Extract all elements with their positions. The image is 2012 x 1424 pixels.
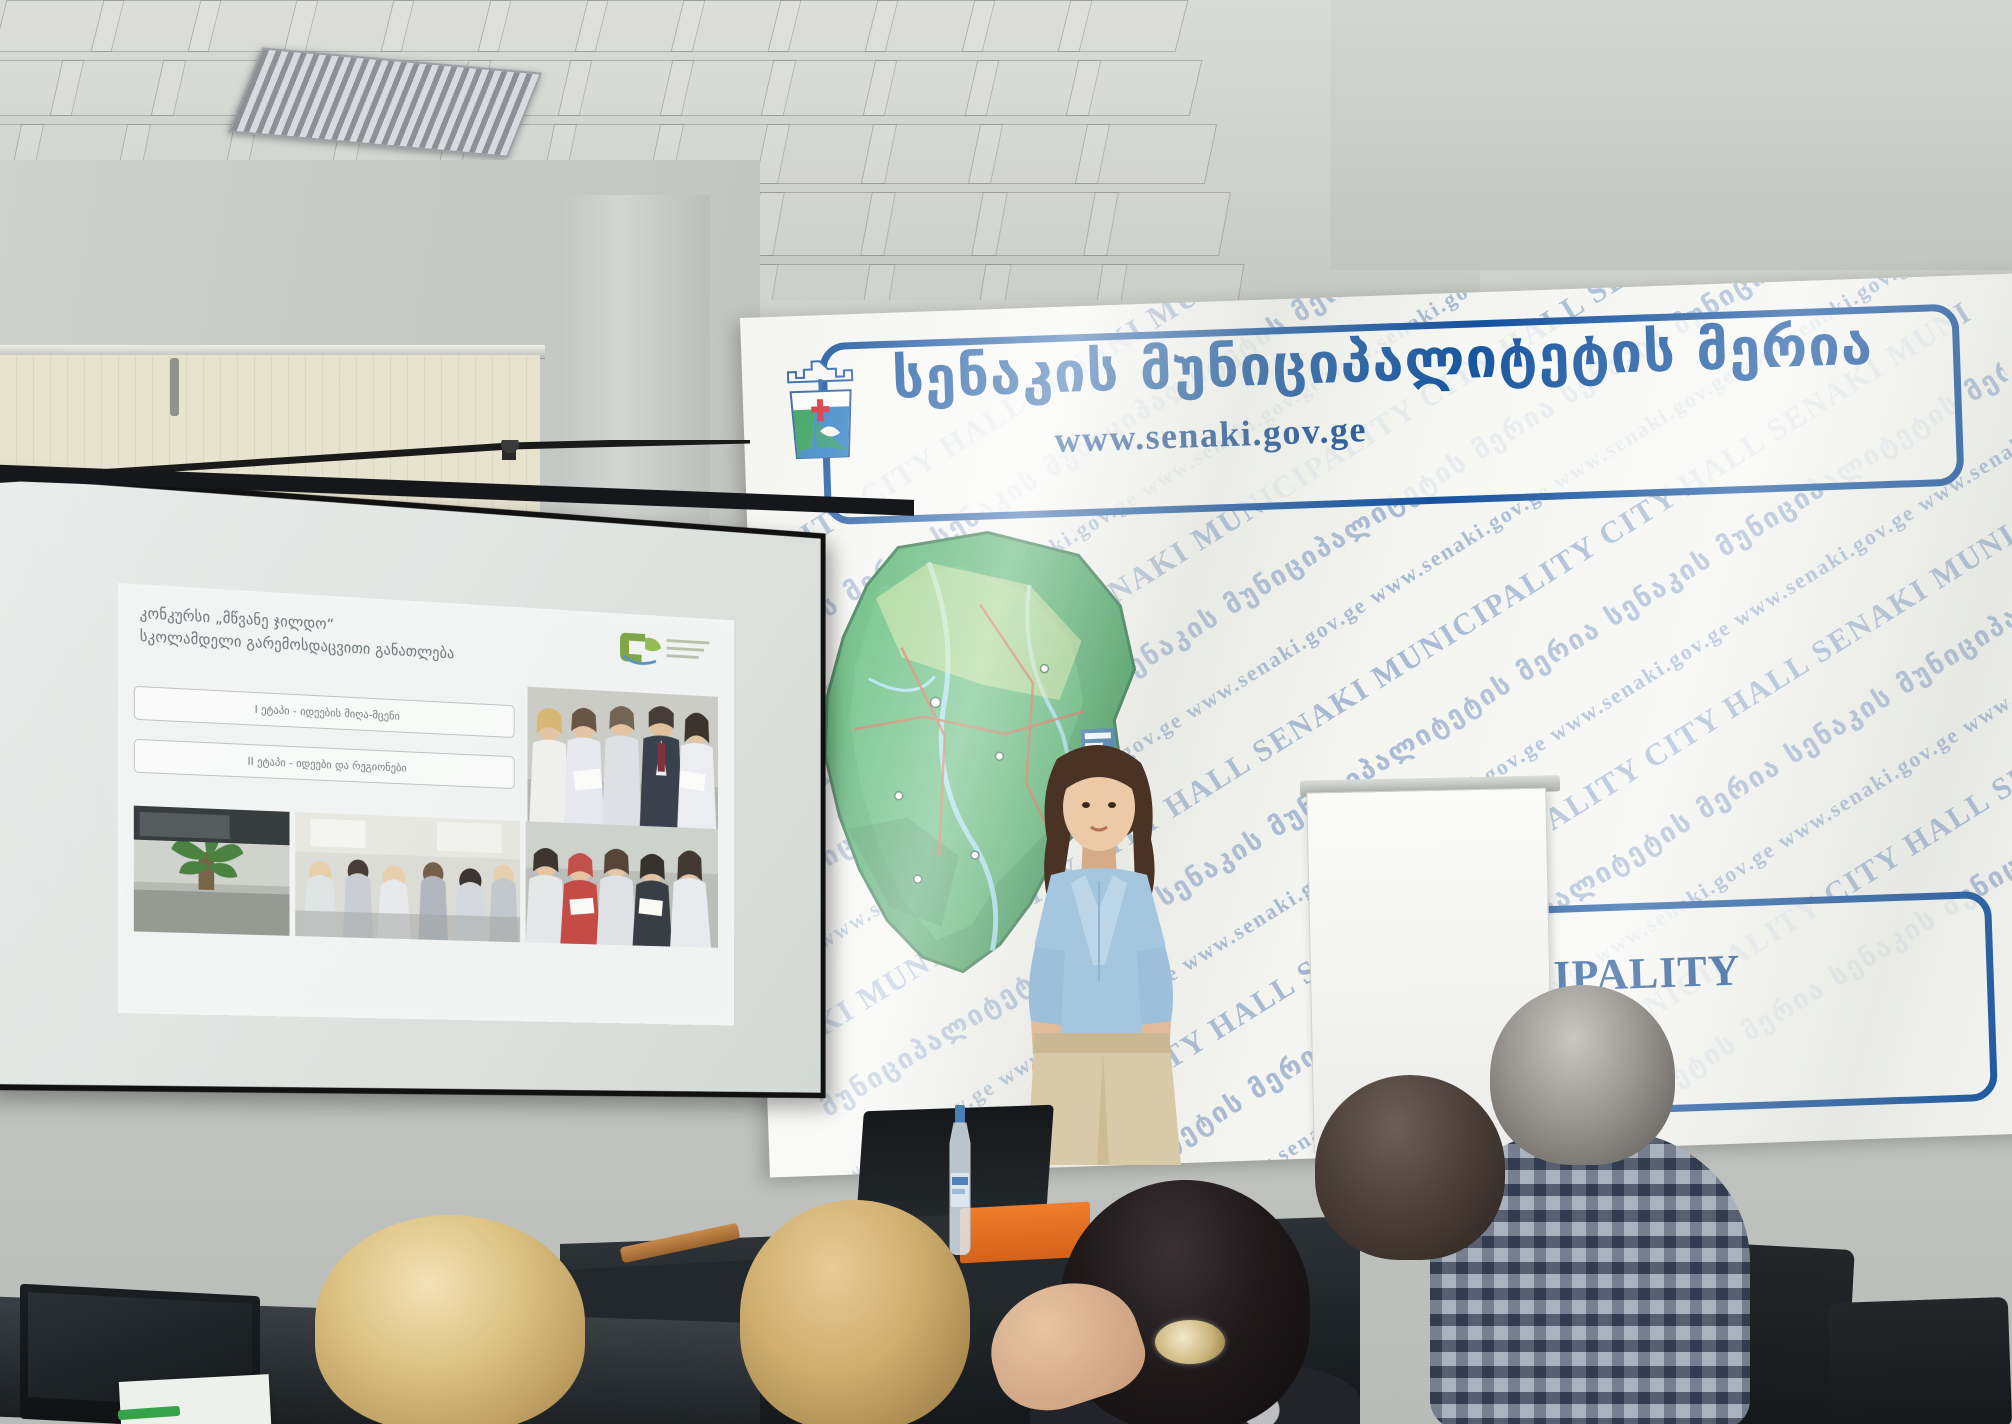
hair-clip (1155, 1320, 1225, 1364)
slide-title: კონკურსი „მწვანე ჯილდო“ სკოლამდელი გარემ… (140, 602, 455, 664)
audience-grey-hair-man (1490, 985, 1675, 1165)
audience-blonde-woman-front-center (740, 1200, 970, 1424)
ceiling-tile (1066, 60, 1203, 116)
ceiling-tile (1083, 192, 1231, 256)
photo-office-plant (134, 806, 290, 936)
slide-stage-2-label: II ეტაპი - იდეები და რეგიონები (248, 754, 407, 774)
slide-stage-1-box: I ეტაპი - იდეების მიღა-მცენი (134, 686, 515, 738)
suspended-ceiling-tiles-right (1330, 0, 2012, 270)
presenter-woman (985, 735, 1215, 1165)
ceiling-tile (1074, 124, 1216, 184)
audience-chair (1828, 1297, 2012, 1424)
water-bottle (945, 1105, 975, 1255)
photo-certificate-group (526, 821, 718, 948)
ceiling-tile (1058, 0, 1189, 52)
slide-stage-2-box: II ეტაპი - იდეები და რეგიონები (134, 739, 515, 789)
audience-blonde-woman-front-left (315, 1215, 585, 1424)
audience-bald-man (1315, 1075, 1505, 1260)
photo-scene: SENAKI MUNICIPALITY CITY HALL SENAKI MUN… (0, 0, 2012, 1424)
photo-conference-audience (295, 812, 520, 942)
photo-award-ceremony-group (527, 687, 718, 829)
blinds-control-rod[interactable] (170, 358, 179, 416)
presentation-slide: კონკურსი „მწვანე ჯილდო“ სკოლამდელი გარემ… (118, 583, 734, 1026)
green-award-logo (618, 627, 714, 672)
slide-stage-1-label: I ეტაპი - იდეების მიღა-მცენი (255, 702, 400, 722)
